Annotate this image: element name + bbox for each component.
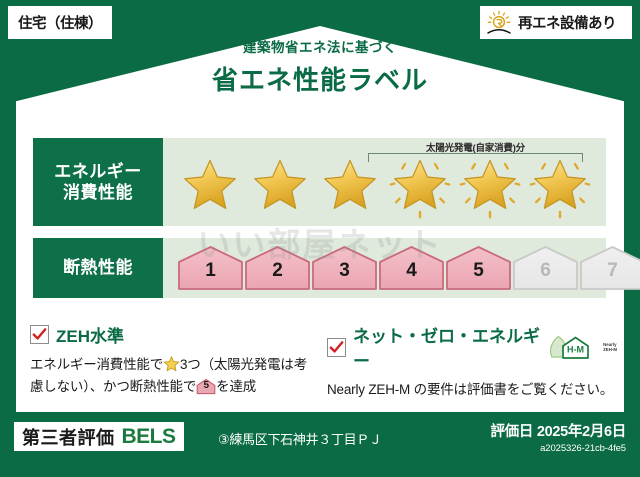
star-icon [175, 154, 245, 222]
insulation-grade-value: 4 [406, 261, 417, 291]
zeh-checkbox[interactable] [30, 325, 49, 344]
energy-performance-label: エネルギー 消費性能 [33, 138, 163, 226]
net-zero-note-body: Nearly ZEH-M の要件は評価書をご覧ください。 [327, 379, 617, 401]
inline-star-icon [163, 356, 180, 372]
star-icon-solar [385, 154, 455, 222]
bels-badge: 第三者評価 BELS [14, 422, 184, 451]
title-block: 建築物省エネ法に基づく 省エネ性能ラベル [0, 36, 640, 97]
insulation-grade-7: 7 [579, 245, 640, 291]
svg-text:H-M: H-M [567, 344, 584, 354]
insulation-grade-2: 2 [244, 245, 311, 291]
zeh-m-logo-caption: Nearly ZEH-M [603, 342, 617, 352]
insulation-performance-row: 断熱性能 1234567 [33, 238, 606, 298]
zeh-m-logo-icon: H-M [549, 335, 595, 360]
inline-grade-value: 5 [196, 378, 216, 395]
star-icon-solar [455, 154, 525, 222]
zeh-note-text-1: エネルギー消費性能で [30, 357, 163, 372]
net-zero-energy-note: ネット・ゼロ・エネルギー H-M Nearly ZEH-M Nearly ZEH… [327, 322, 617, 401]
insulation-grade-5: 5 [445, 245, 512, 291]
star-icon-solar [525, 154, 595, 222]
star-icon [245, 154, 315, 222]
page-title: 省エネ性能ラベル [0, 60, 640, 97]
insulation-rating-body: 1234567 [163, 238, 606, 298]
solar-annotation-label: 太陽光発電(自家消費)分 [368, 140, 583, 154]
zeh-note-body: エネルギー消費性能で 3つ（太陽光発電は考慮しない）、かつ断熱性能で 5 を達成 [30, 354, 315, 398]
insulation-label-text: 断熱性能 [63, 257, 133, 278]
insulation-grade-scale: 1234567 [177, 245, 640, 291]
energy-label-line1: エネルギー [54, 161, 142, 182]
zeh-note-title: ZEH水準 [56, 322, 124, 347]
evaluation-id: a2025326-21cb-4fe5 [490, 443, 626, 454]
property-address: ③練馬区下石神井３丁目ＰＪ [218, 429, 382, 448]
bels-en-label: BELS [122, 425, 176, 449]
energy-performance-row: エネルギー 消費性能 太陽光発電(自家消費)分 [33, 138, 606, 226]
footer: 第三者評価 BELS ③練馬区下石神井３丁目ＰＪ 評価日 2025年2月6日 a… [0, 412, 640, 477]
net-zero-note-header: ネット・ゼロ・エネルギー H-M Nearly ZEH-M [327, 322, 617, 372]
insulation-grade-value: 7 [607, 261, 618, 291]
renewable-energy-badge: 再エネ設備あり [480, 6, 632, 39]
evaluation-info: 評価日 2025年2月6日 a2025326-21cb-4fe5 [490, 420, 626, 454]
star-icon [315, 154, 385, 222]
insulation-grade-4: 4 [378, 245, 445, 291]
net-zero-checkbox[interactable] [327, 338, 346, 357]
insulation-grade-6: 6 [512, 245, 579, 291]
energy-label-line2: 消費性能 [63, 182, 133, 203]
zeh-note-text-3: を達成 [216, 379, 256, 394]
insulation-grade-value: 6 [540, 261, 551, 291]
renewable-energy-label: 再エネ設備あり [518, 12, 616, 33]
insulation-grade-value: 5 [473, 261, 484, 291]
insulation-performance-label: 断熱性能 [33, 238, 163, 298]
energy-performance-label: 住宅（住棟） 再エネ設備あり 建築物省エネ法に基づく [0, 0, 640, 477]
zeh-note-header: ZEH水準 [30, 322, 315, 347]
evaluation-date: 評価日 2025年2月6日 [490, 420, 626, 441]
bels-jp-label: 第三者評価 [22, 424, 115, 450]
net-zero-note-title: ネット・ゼロ・エネルギー [353, 322, 540, 372]
inline-grade-badge: 5 [196, 378, 216, 395]
sun-icon [484, 10, 514, 36]
insulation-grade-value: 3 [339, 261, 350, 291]
title-subtitle: 建築物省エネ法に基づく [0, 36, 640, 56]
insulation-grade-value: 2 [272, 261, 283, 291]
energy-rating-body: 太陽光発電(自家消費)分 [163, 138, 606, 226]
insulation-grade-3: 3 [311, 245, 378, 291]
insulation-grade-value: 1 [205, 261, 216, 291]
zeh-note: ZEH水準 エネルギー消費性能で 3つ（太陽光発電は考慮しない）、かつ断熱性能で… [30, 322, 315, 398]
star-rating [163, 154, 606, 222]
insulation-grade-1: 1 [177, 245, 244, 291]
zeh-m-caption-line2: ZEH-M [603, 347, 617, 352]
building-type-badge: 住宅（住棟） [8, 6, 112, 39]
building-type-label: 住宅（住棟） [18, 12, 102, 33]
